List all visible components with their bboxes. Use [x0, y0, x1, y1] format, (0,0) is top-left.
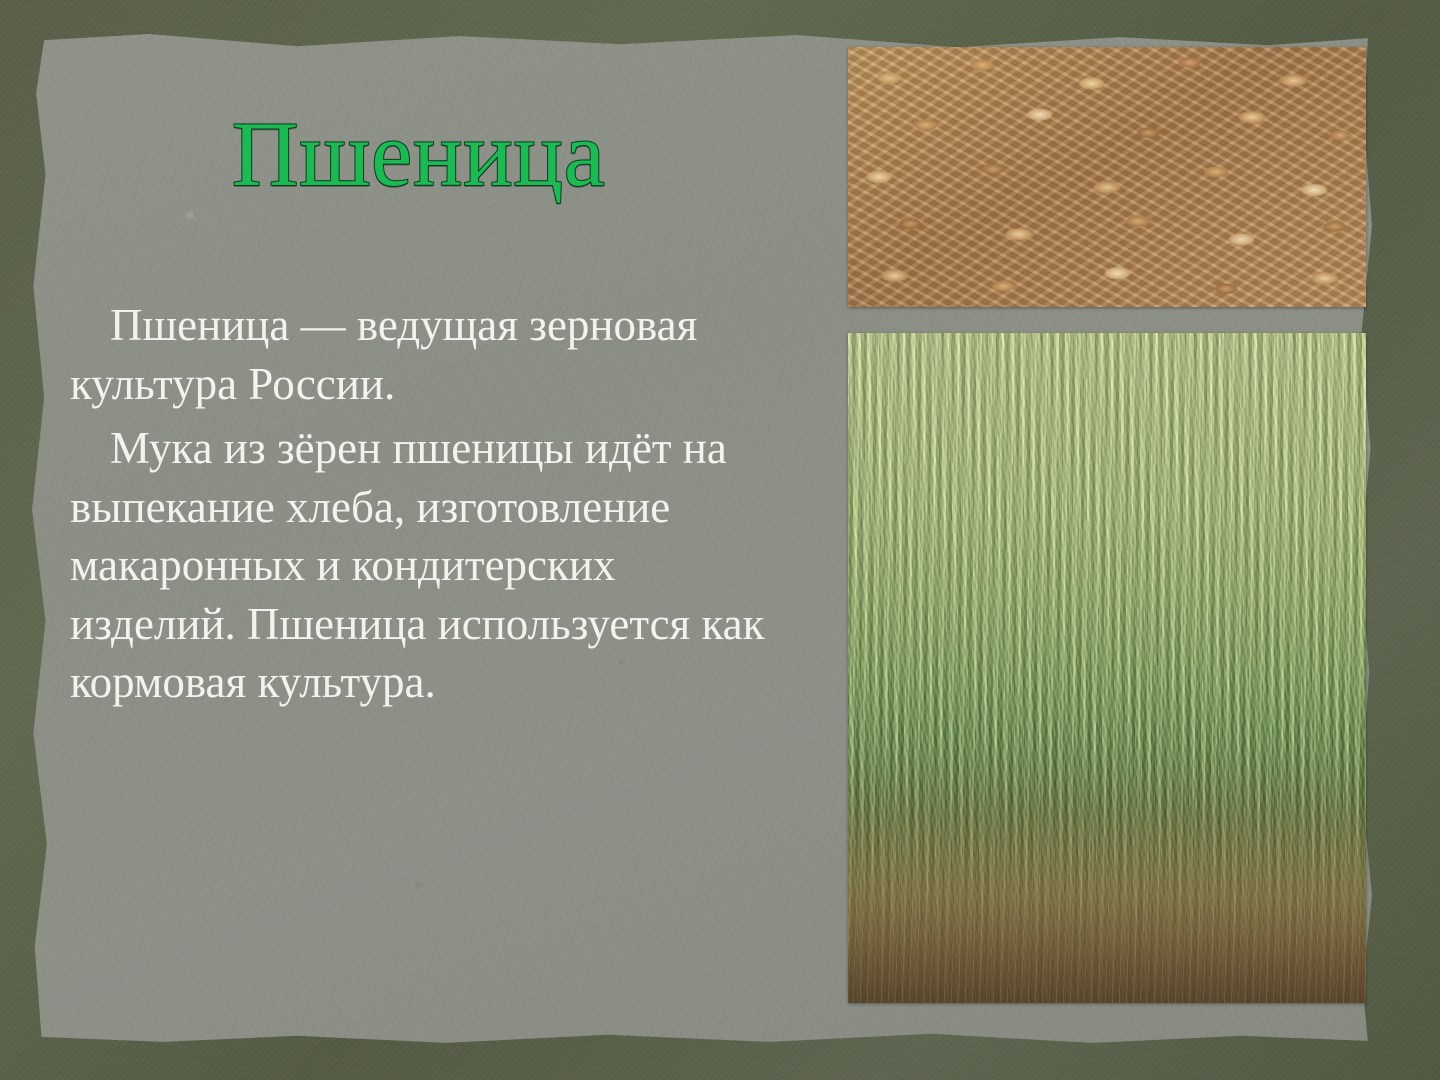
- slide-body-text: Пшеница — ведущая зерновая культура Росс…: [70, 296, 790, 712]
- paragraph-1: Пшеница — ведущая зерновая культура Росс…: [70, 296, 790, 413]
- presentation-slide: Пшеница Пшеница — ведущая зерновая культ…: [0, 0, 1440, 1080]
- paragraph-2: Мука из зёрен пшеницы идёт на выпекание …: [70, 419, 790, 712]
- wheat-field-photo: [848, 333, 1366, 1003]
- wheat-grains-photo: [848, 47, 1366, 307]
- page-title: Пшеница: [232, 108, 606, 200]
